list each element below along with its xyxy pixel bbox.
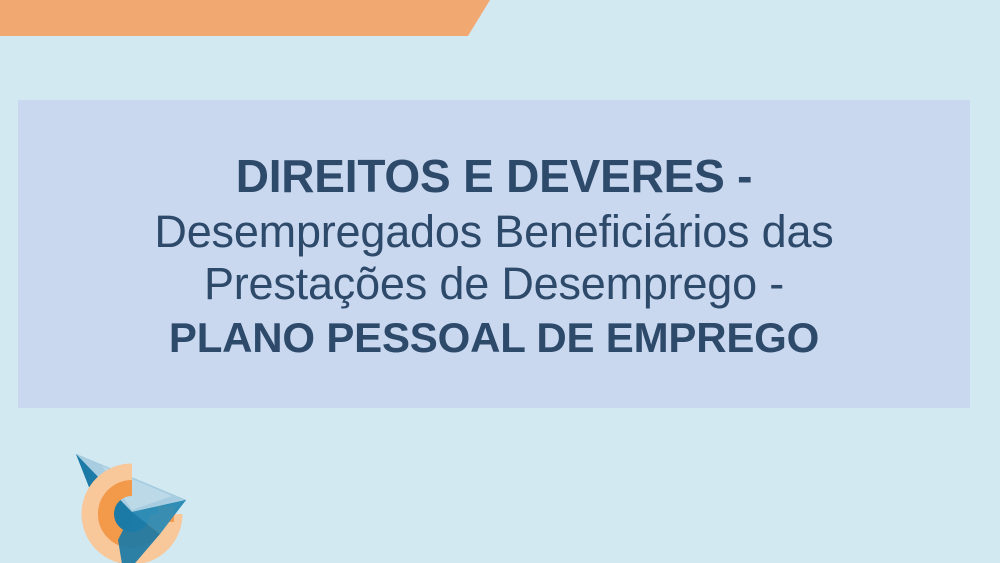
organization-logo bbox=[62, 448, 194, 563]
slide-canvas: DIREITOS E DEVERES - Desempregados Benef… bbox=[0, 0, 1000, 563]
title-line-2: Desempregados Beneficiários das bbox=[48, 207, 940, 257]
title-line-4: PLANO PESSOAL DE EMPREGO bbox=[48, 314, 940, 361]
title-line-1: DIREITOS E DEVERES - bbox=[48, 151, 940, 203]
title-line-3: Prestações de Desemprego - bbox=[48, 259, 940, 309]
top-orange-banner bbox=[0, 0, 490, 36]
triangle-spiral-logo-icon bbox=[62, 448, 194, 563]
title-panel: DIREITOS E DEVERES - Desempregados Benef… bbox=[18, 100, 970, 408]
banner-clipped-text bbox=[0, 0, 490, 3]
